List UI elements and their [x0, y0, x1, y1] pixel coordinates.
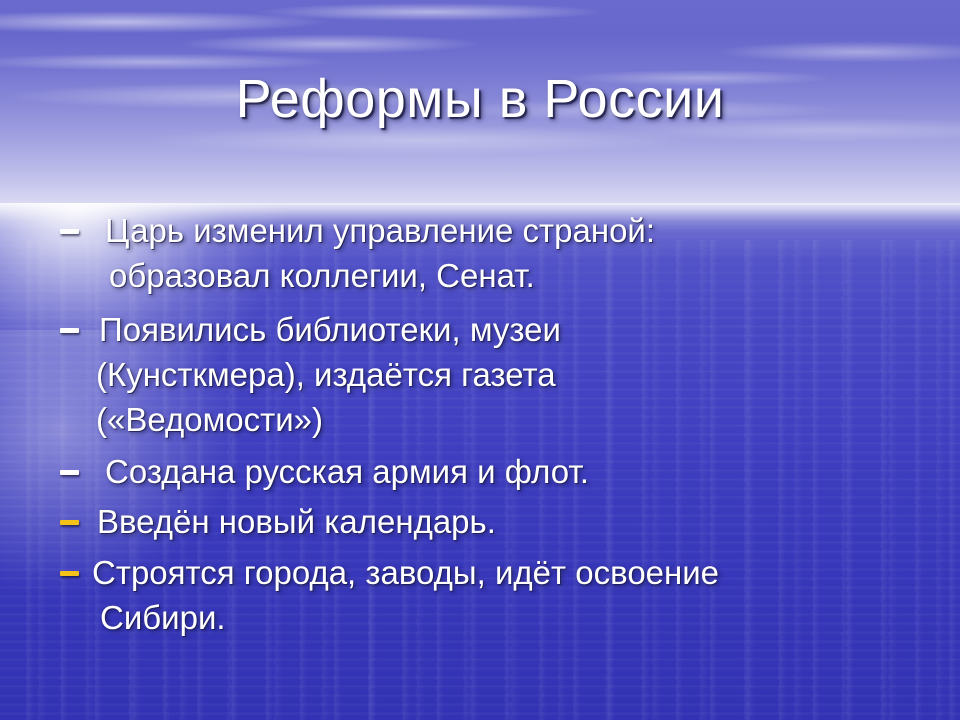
slide-title: Реформы в России — [0, 68, 960, 130]
list-item-line: образовал коллегии, Сенат. — [105, 253, 942, 298]
list-item-line: Введён новый календарь. — [97, 499, 942, 544]
list-item: Создана русская армия и флот. — [52, 449, 942, 494]
list-item-line: Строятся города, заводы, идёт освоение — [92, 550, 942, 595]
dash-bullet-icon — [60, 571, 79, 576]
list-item: Введён новый календарь. — [52, 499, 942, 544]
list-item: Строятся города, заводы, идёт освоение С… — [52, 550, 942, 640]
dash-bullet-icon — [60, 520, 79, 525]
list-item-line: («Ведомости») — [96, 397, 942, 442]
slide-content: Реформы в России Царь изменил управление… — [0, 0, 960, 720]
list-item-line: Сибири. — [92, 595, 942, 640]
dash-bullet-icon — [60, 328, 79, 333]
spacer — [52, 442, 942, 449]
spacer — [52, 298, 942, 307]
presentation-slide: Реформы в России Царь изменил управление… — [0, 0, 960, 720]
list-item: Появились библиотеки, музеи (Кунсткмера)… — [52, 307, 942, 442]
list-item-line: Царь изменил управление страной: — [105, 208, 942, 253]
list-item-line: Создана русская армия и флот. — [105, 449, 942, 494]
dash-bullet-icon — [60, 229, 79, 234]
list-item-line: Появились библиотеки, музеи — [105, 307, 942, 352]
bullet-list: Царь изменил управление страной: образов… — [52, 208, 942, 640]
list-item-line: (Кунсткмера), издаётся газета — [96, 352, 942, 397]
list-item: Царь изменил управление страной: образов… — [52, 208, 942, 298]
dash-bullet-icon — [60, 470, 79, 475]
